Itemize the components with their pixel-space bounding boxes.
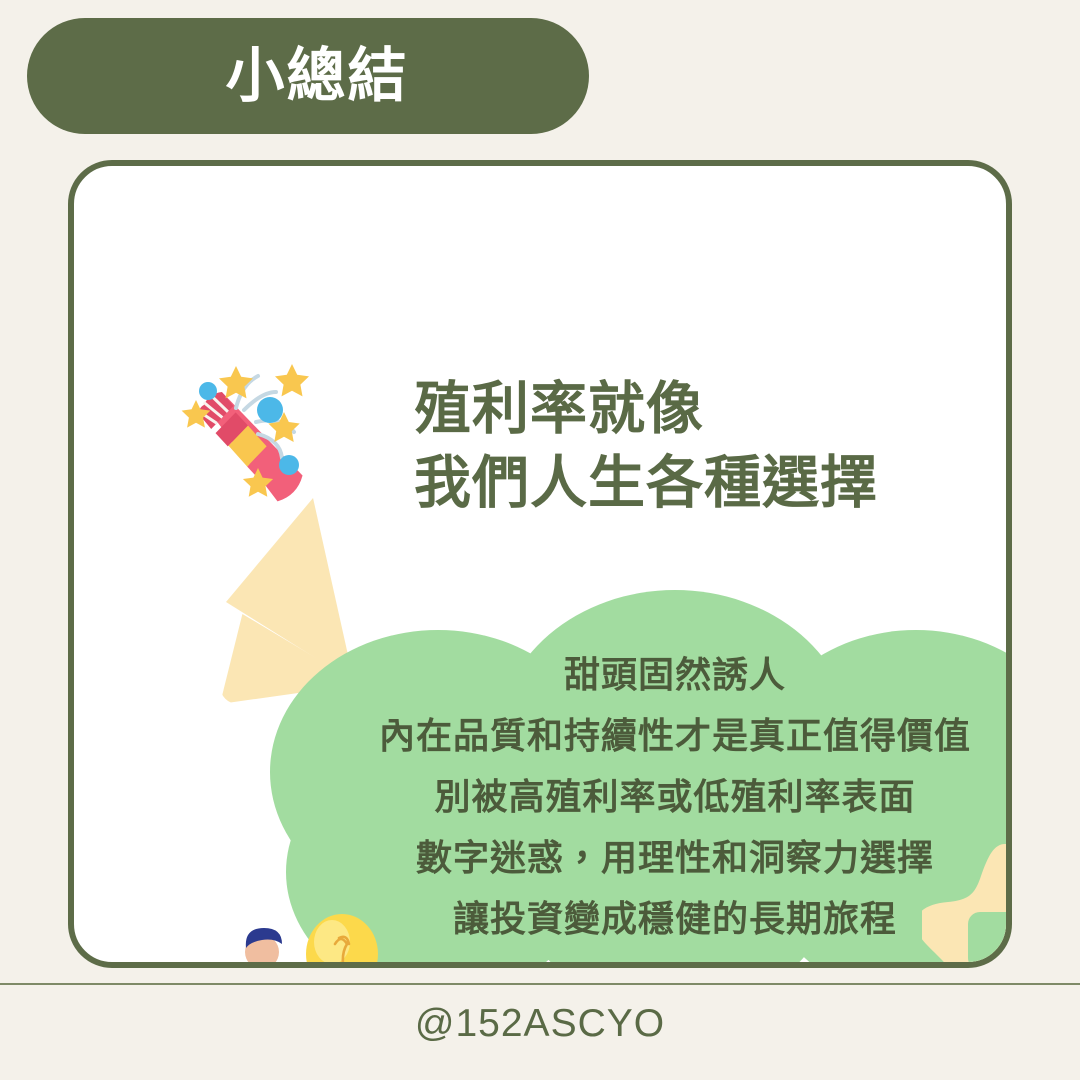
- content-card: 殖利率就像 我們人生各種選擇 甜頭固然誘人 內在品質和持續性才是真正值得價值: [68, 160, 1012, 968]
- person-at-crossroads-icon: [200, 892, 426, 968]
- title-line-1: 殖利率就像: [414, 372, 1012, 446]
- header-badge: 小總結: [27, 18, 589, 134]
- party-popper-icon: [170, 358, 342, 518]
- footer-divider: [0, 983, 1080, 985]
- lightbulb-icon: [306, 914, 378, 968]
- title-line-2: 我們人生各種選擇: [414, 446, 1012, 520]
- quote-star-icon: [922, 838, 1012, 968]
- infographic-page: 小總結: [0, 0, 1080, 1080]
- footer-handle: @152ASCYO: [0, 1002, 1080, 1046]
- card-title: 殖利率就像 我們人生各種選擇: [414, 372, 1012, 520]
- header-badge-label: 小總結: [225, 47, 408, 106]
- person-icon: [218, 928, 290, 968]
